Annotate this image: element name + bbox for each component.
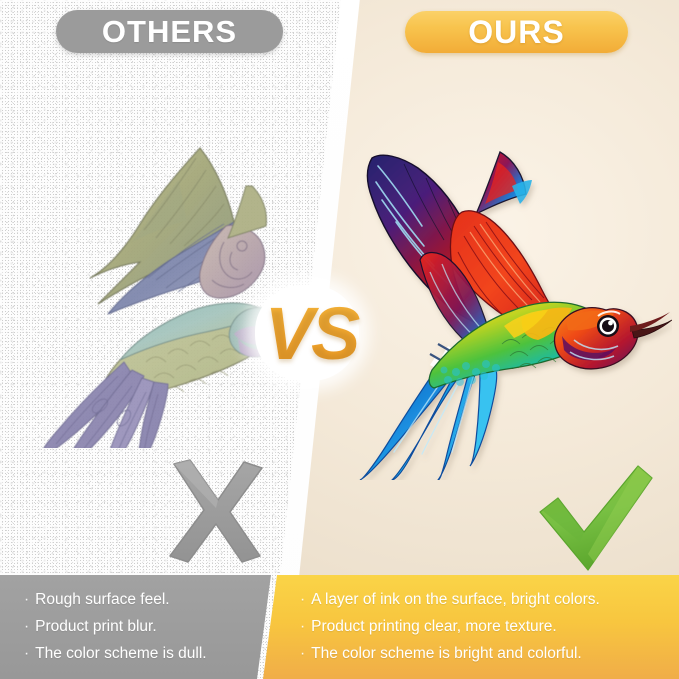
check-icon [536, 462, 654, 572]
list-item: ·Product print blur. [24, 618, 274, 636]
bullet-dot: · [24, 618, 29, 636]
list-item: ·Product printing clear, more texture. [300, 618, 672, 636]
list-item-label: The color scheme is dull. [35, 645, 206, 662]
others-feature-list: ·Rough surface feel. ·Product print blur… [24, 575, 274, 679]
list-item: ·Rough surface feel. [24, 591, 274, 609]
ours-feature-list: ·A layer of ink on the surface, bright c… [300, 575, 672, 679]
list-item-label: The color scheme is bright and colorful. [311, 645, 582, 662]
list-item-label: A layer of ink on the surface, bright co… [311, 591, 600, 608]
bullet-dot: · [24, 591, 29, 609]
vs-separator: VS [245, 281, 377, 385]
bullet-dot: · [300, 645, 305, 663]
bullet-dot: · [24, 645, 29, 663]
list-item-label: Product print blur. [35, 618, 156, 635]
bullet-dot: · [300, 618, 305, 636]
comparison-infographic: OTHERS OURS VS ·Rough surface feel. [0, 0, 679, 679]
list-item: ·A layer of ink on the surface, bright c… [300, 591, 672, 609]
vs-label: VS [245, 281, 377, 385]
list-item: ·The color scheme is bright and colorful… [300, 645, 672, 663]
hummingbird-artwork-ours [352, 140, 672, 480]
badge-ours: OURS [405, 11, 628, 53]
badge-others: OTHERS [56, 10, 283, 53]
bullet-dot: · [300, 591, 305, 609]
list-item: ·The color scheme is dull. [24, 645, 274, 663]
list-item-label: Product printing clear, more texture. [311, 618, 557, 635]
list-item-label: Rough surface feel. [35, 591, 169, 608]
cross-icon [160, 458, 270, 566]
